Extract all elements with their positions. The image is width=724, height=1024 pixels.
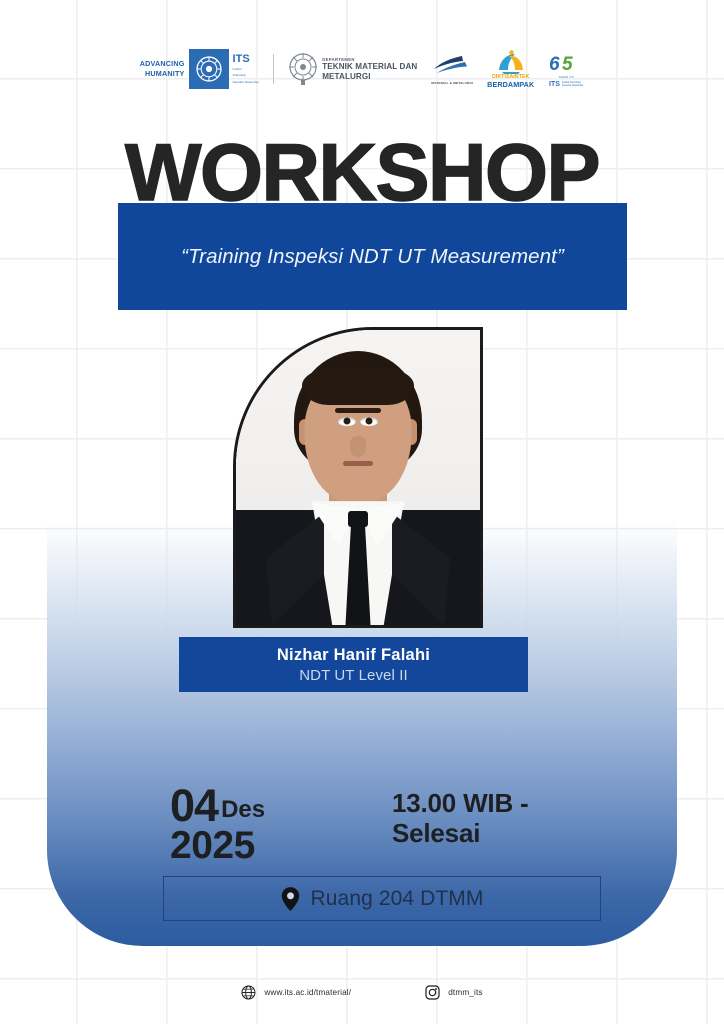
diktisaintek-mark-icon bbox=[495, 50, 527, 74]
website-contact[interactable]: www.its.ac.id/tmaterial/ bbox=[241, 985, 351, 1000]
diktisaintek-berdampak-logo: DIKTISAINTEK BERDAMPAK bbox=[487, 50, 534, 89]
svg-text:6: 6 bbox=[549, 54, 560, 75]
speaker-photo bbox=[236, 330, 480, 625]
location-text: Ruang 204 DTMM bbox=[311, 887, 484, 911]
its-wordmark-sub-2: Teknologi bbox=[233, 73, 260, 77]
its-65-wordmark: ITS bbox=[549, 81, 560, 88]
its-wordmark-sub-1: Institut bbox=[233, 67, 260, 71]
its-65-anniversary-logo: 6 5 TAHUN ITS ITS Institut Teknologi Sep… bbox=[548, 51, 584, 88]
its-65-kicker: TAHUN ITS bbox=[559, 76, 574, 79]
website-url: www.its.ac.id/tmaterial/ bbox=[264, 988, 351, 997]
department-name: DEPARTEMEN TEKNIK MATERIAL DAN METALURGI bbox=[322, 57, 417, 81]
department-line-1: TEKNIK MATERIAL DAN bbox=[322, 62, 417, 72]
schedule-block: 04 Des 2025 13.00 WIB - Selesai bbox=[170, 785, 590, 875]
advancing-humanity-its-logo: ADVANCING HUMANITY ITS Institut Teknolog… bbox=[140, 48, 259, 90]
its-monochrome-seal-icon bbox=[288, 52, 318, 86]
departemen-teknik-material-metalurgi-logo: DEPARTEMEN TEKNIK MATERIAL DAN METALURGI bbox=[288, 48, 417, 90]
schedule-time: 13.00 WIB - Selesai bbox=[392, 789, 588, 849]
sixty-five-numeral-icon: 6 5 bbox=[548, 51, 584, 76]
map-pin-icon bbox=[281, 887, 300, 911]
speaker-name-band: Nizhar Hanif Falahi NDT UT Level II bbox=[179, 637, 528, 692]
its-seal-icon bbox=[189, 49, 229, 89]
its-65-sub-2: Sepuluh Nopember bbox=[562, 84, 584, 87]
schedule-day: 04 bbox=[170, 785, 218, 826]
location-box: Ruang 204 DTMM bbox=[163, 876, 601, 921]
subtitle-text: “Training Inspeksi NDT UT Measurement” bbox=[181, 245, 564, 269]
subtitle-banner: “Training Inspeksi NDT UT Measurement” bbox=[118, 203, 627, 310]
speaker-credential: NDT UT Level II bbox=[299, 667, 407, 684]
double-chevron-icon bbox=[432, 54, 472, 78]
instagram-contact[interactable]: dtmm_its bbox=[425, 985, 482, 1000]
its-65-subtext: Institut Teknologi Sepuluh Nopember bbox=[562, 81, 584, 88]
instagram-handle: dtmm_its bbox=[448, 988, 482, 997]
schedule-year: 2025 bbox=[170, 826, 360, 867]
diktisaintek-line-2: BERDAMPAK bbox=[487, 80, 534, 89]
advancing-humanity-tagline: ADVANCING HUMANITY bbox=[140, 59, 185, 78]
logo-divider bbox=[273, 54, 274, 84]
material-metalurgi-logo: MATERIAL & METALURGI bbox=[431, 54, 473, 85]
material-metalurgi-caption: MATERIAL & METALURGI bbox=[431, 81, 473, 85]
schedule-month: Des bbox=[221, 796, 265, 824]
globe-icon bbox=[241, 985, 256, 1000]
tagline-line-1: ADVANCING bbox=[140, 59, 185, 69]
department-line-2: METALURGI bbox=[322, 72, 417, 82]
footer-contacts: www.its.ac.id/tmaterial/ dtmm_its bbox=[0, 985, 724, 1000]
svg-text:5: 5 bbox=[562, 54, 573, 75]
date-block: 04 Des 2025 bbox=[170, 785, 360, 867]
its-wordmark-label: ITS bbox=[233, 54, 260, 65]
its-wordmark: ITS Institut Teknologi Sepuluh Nopember bbox=[233, 54, 260, 84]
speaker-photo-frame bbox=[233, 327, 483, 628]
instagram-icon bbox=[425, 985, 440, 1000]
its-wordmark-sub-3: Sepuluh Nopember bbox=[233, 80, 260, 84]
speaker-name: Nizhar Hanif Falahi bbox=[277, 646, 430, 665]
tagline-line-2: HUMANITY bbox=[140, 69, 185, 79]
logo-strip: ADVANCING HUMANITY ITS Institut Teknolog… bbox=[0, 48, 724, 90]
page-title: WORKSHOP bbox=[0, 133, 724, 214]
